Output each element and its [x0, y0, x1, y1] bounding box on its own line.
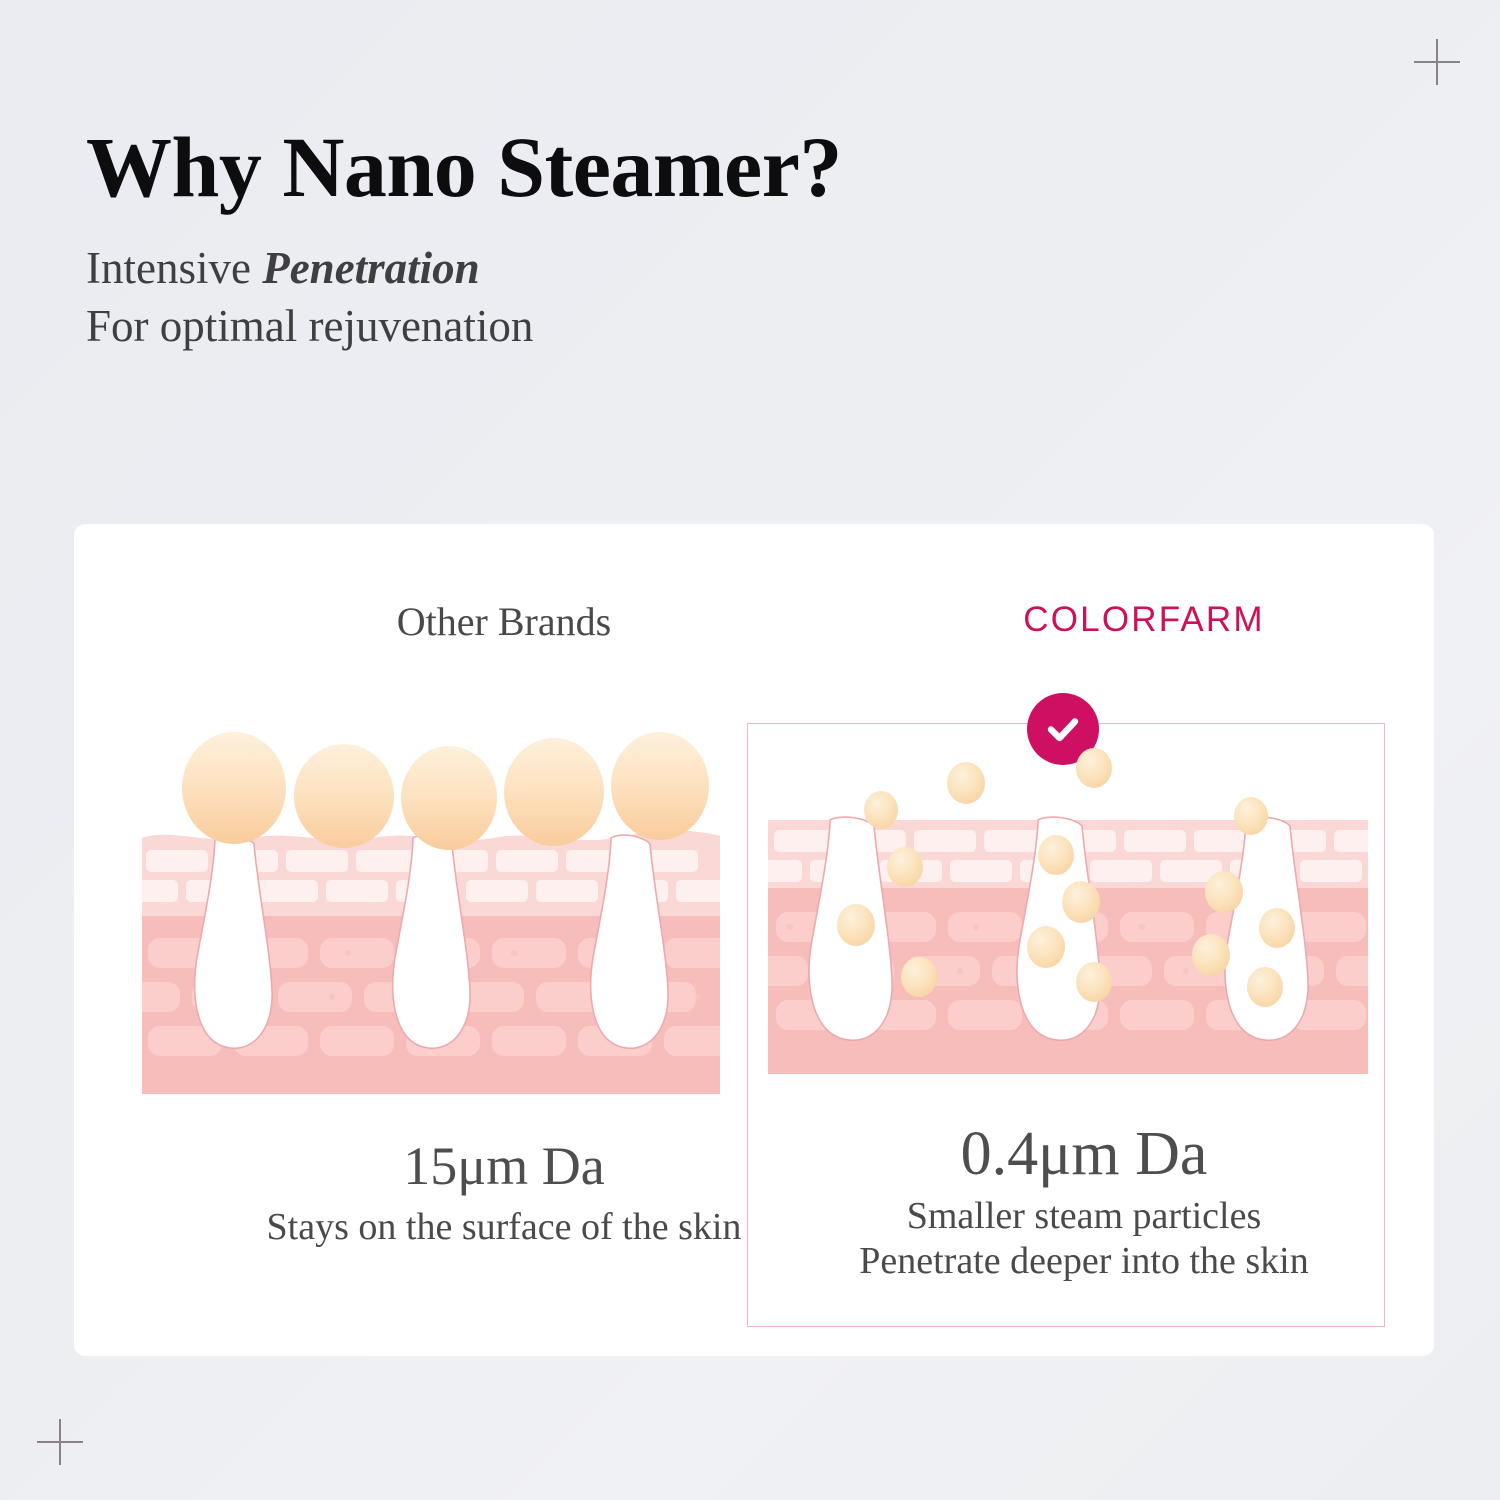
page-background: Why Nano Steamer? Intensive Penetration …	[0, 0, 1500, 1500]
headline-block: Why Nano Steamer? Intensive Penetration …	[86, 124, 1286, 355]
column-heading-colorfarm: COLORFARM	[864, 602, 1424, 637]
subtitle-line-1: Intensive Penetration	[86, 240, 1286, 298]
plus-mark-icon	[1414, 39, 1460, 85]
subtitle-prefix: Intensive	[86, 243, 262, 293]
column-heading-other-brands: Other Brands	[234, 602, 774, 642]
subtitle-emphasis: Penetration	[262, 243, 480, 293]
metric-value-left: 15μm Da	[194, 1138, 814, 1195]
metric-colorfarm: 0.4μm Da Smaller steam particles Penetra…	[774, 1122, 1394, 1283]
metric-desc-right-line-1: Smaller steam particles	[774, 1194, 1394, 1239]
page-title: Why Nano Steamer?	[86, 124, 1286, 210]
diagram-other-brands	[142, 720, 720, 1104]
metric-other-brands: 15μm Da Stays on the surface of the skin	[194, 1138, 814, 1250]
subtitle-line-2: For optimal rejuvenation	[86, 298, 1286, 356]
comparison-card: Other Brands COLORFARM	[74, 524, 1434, 1356]
metric-desc-right-line-2: Penetrate deeper into the skin	[774, 1239, 1394, 1284]
plus-mark-icon	[37, 1419, 83, 1465]
metric-desc-left: Stays on the surface of the skin	[194, 1205, 814, 1250]
metric-value-right: 0.4μm Da	[774, 1122, 1394, 1188]
subtitle-block: Intensive Penetration For optimal rejuve…	[86, 240, 1286, 355]
diagram-colorfarm	[768, 740, 1368, 1104]
